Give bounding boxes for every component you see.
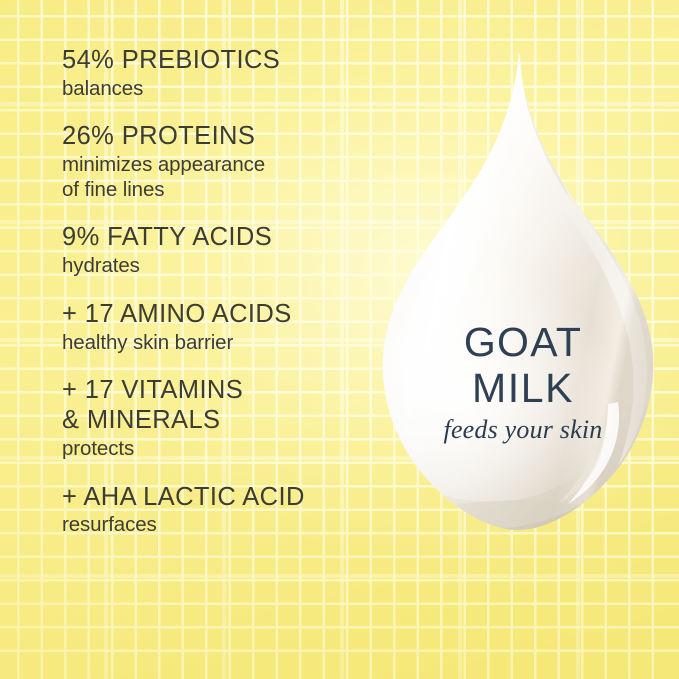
ingredient-item-prebiotics: 54% PREBIOTICS balances <box>62 46 382 101</box>
ingredient-benefit: minimizes appearance of fine lines <box>62 153 382 202</box>
ingredient-headline: 54% PREBIOTICS <box>62 46 382 76</box>
milk-droplet: GOAT MILK feeds your skin <box>372 52 668 552</box>
ingredient-item-fatty-acids: 9% FATTY ACIDS hydrates <box>62 223 382 278</box>
ingredient-headline: 9% FATTY ACIDS <box>62 223 382 253</box>
ingredient-headline: + AHA LACTIC ACID <box>62 483 382 513</box>
droplet-shape-icon <box>372 52 668 552</box>
ingredient-item-aha-lactic-acid: + AHA LACTIC ACID resurfaces <box>62 483 382 538</box>
ingredient-headline: + 17 VITAMINS & MINERALS <box>62 376 382 436</box>
ingredient-benefit: hydrates <box>62 254 382 279</box>
ingredient-headline: 26% PROTEINS <box>62 122 382 152</box>
goat-milk-ingredient-poster: GOAT MILK feeds your skin 54% PREBIOTICS… <box>0 0 679 679</box>
ingredient-item-amino-acids: + 17 AMINO ACIDS healthy skin barrier <box>62 300 382 355</box>
ingredient-list: 54% PREBIOTICS balances 26% PROTEINS min… <box>62 46 382 538</box>
ingredient-item-proteins: 26% PROTEINS minimizes appearance of fin… <box>62 122 382 202</box>
ingredient-headline: + 17 AMINO ACIDS <box>62 300 382 330</box>
ingredient-item-vitamins-minerals: + 17 VITAMINS & MINERALS protects <box>62 376 382 461</box>
ingredient-benefit: resurfaces <box>62 513 382 538</box>
ingredient-benefit: protects <box>62 437 382 462</box>
ingredient-benefit: healthy skin barrier <box>62 331 382 356</box>
ingredient-benefit: balances <box>62 77 382 102</box>
